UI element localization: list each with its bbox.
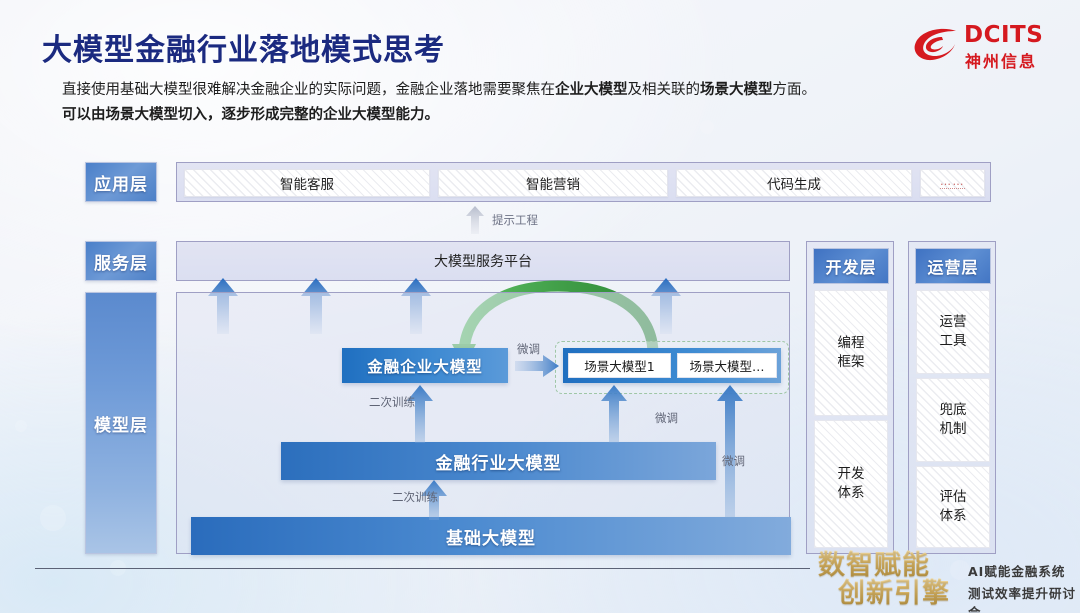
prompt-up-arrow-icon xyxy=(466,206,484,234)
retrain-label-1: 二次训练 xyxy=(369,394,415,410)
subtitle-line-1: 直接使用基础大模型很难解决金融企业的实际问题，金融企业落地需要聚焦在企业大模型及… xyxy=(62,78,1002,103)
branding-subtitle-1: AI赋能金融系统 xyxy=(968,561,1065,580)
operation-cell-fallback: 兜底机制 xyxy=(916,378,990,462)
page-title: 大模型金融行业落地模式思考 xyxy=(42,25,445,69)
development-cell-programming-framework: 编程框架 xyxy=(814,290,888,416)
subtitle-emphasis-enterprise: 企业大模型 xyxy=(555,82,628,98)
operation-cell-tools: 运营工具 xyxy=(916,290,990,374)
up-arrow-fine-tune-base-icon xyxy=(717,385,743,518)
industry-model-box: 金融行业大模型 xyxy=(281,442,716,480)
operation-layer-panel: 运营层 运营工具 兜底机制 评估体系 xyxy=(908,241,996,554)
fine-tune-label-1: 微调 xyxy=(517,341,540,357)
ellipsis-mark: …… xyxy=(940,177,965,189)
page-subtitle: 直接使用基础大模型很难解决金融企业的实际问题，金融企业落地需要聚焦在企业大模型及… xyxy=(62,78,1002,128)
retrain-label-2: 二次训练 xyxy=(392,489,438,505)
development-cell-development-system-label: 开发体系 xyxy=(832,465,870,503)
enterprise-model-box: 金融企业大模型 xyxy=(342,348,508,383)
dcits-logo: DCITS 神州信息 xyxy=(912,20,1062,76)
development-cell-programming-framework-label: 编程框架 xyxy=(832,334,870,372)
page-header: 大模型金融行业落地模式思考 直接使用基础大模型很难解决金融企业的实际问题，金融企… xyxy=(0,0,1080,140)
service-platform-label: 大模型服务平台 xyxy=(434,251,532,271)
development-layer-header: 开发层 xyxy=(813,248,889,284)
fine-tune-label-3: 微调 xyxy=(722,453,745,469)
development-cell-development-system: 开发体系 xyxy=(814,420,888,548)
app-box-code-generation: 代码生成 xyxy=(676,169,912,197)
logo-text-cn: 神州信息 xyxy=(965,48,1037,72)
operation-cell-evaluation-label: 评估体系 xyxy=(934,488,972,526)
app-box-more: …… xyxy=(920,169,985,197)
scenario-model-box-1: 场景大模型1 xyxy=(568,353,671,378)
footer-divider xyxy=(35,568,810,569)
operation-cell-tools-label: 运营工具 xyxy=(934,313,972,351)
subtitle-seg-a: 直接使用基础大模型很难解决金融企业的实际问题，金融企业落地需要聚焦在 xyxy=(62,82,555,98)
fine-tune-label-2: 微调 xyxy=(655,410,678,426)
service-layer-panel: 大模型服务平台 xyxy=(176,241,790,281)
development-layer-panel: 开发层 编程框架 开发体系 xyxy=(806,241,894,554)
app-box-intelligent-marketing: 智能营销 xyxy=(438,169,668,197)
prompt-engineering-label: 提示工程 xyxy=(492,212,538,228)
layer-tab-model: 模型层 xyxy=(85,292,157,554)
operation-cell-fallback-label: 兜底机制 xyxy=(934,401,972,439)
branding-line-2: 创新引擎 xyxy=(838,571,950,610)
architecture-diagram: 应用层 服务层 模型层 智能客服 智能营销 代码生成 …… 提示工程 大模型服务… xyxy=(0,140,1080,613)
model-layer-panel: 金融企业大模型 金融行业大模型 基础大模型 场景大模型1 场景大模型… xyxy=(176,292,790,554)
event-branding: 数智赋能 创新引擎 AI赋能金融系统 测试效率提升研讨会 xyxy=(818,542,1080,613)
up-arrow-fine-tune-scenario-icon xyxy=(601,385,627,443)
application-layer-panel: 智能客服 智能营销 代码生成 …… xyxy=(176,162,991,202)
scenario-model-box-2: 场景大模型… xyxy=(677,353,777,378)
layer-tab-application: 应用层 xyxy=(85,162,157,202)
operation-cell-evaluation: 评估体系 xyxy=(916,466,990,548)
app-box-intelligent-service: 智能客服 xyxy=(184,169,430,197)
base-model-box: 基础大模型 xyxy=(191,517,791,555)
right-arrow-fine-tune-icon xyxy=(515,355,559,377)
subtitle-line-2: 可以由场景大模型切入，逐步形成完整的企业大模型能力。 xyxy=(62,103,1002,128)
operation-layer-header: 运营层 xyxy=(915,248,991,284)
subtitle-emphasis-scenario: 场景大模型 xyxy=(700,82,773,98)
subtitle-seg-e: 方面。 xyxy=(773,82,817,98)
branding-subtitle-2: 测试效率提升研讨会 xyxy=(968,583,1080,613)
subtitle-seg-c: 及相关联的 xyxy=(628,82,701,98)
logo-text-en: DCITS xyxy=(964,22,1043,48)
layer-tab-service: 服务层 xyxy=(85,241,157,281)
dcits-logomark-icon xyxy=(912,24,960,68)
